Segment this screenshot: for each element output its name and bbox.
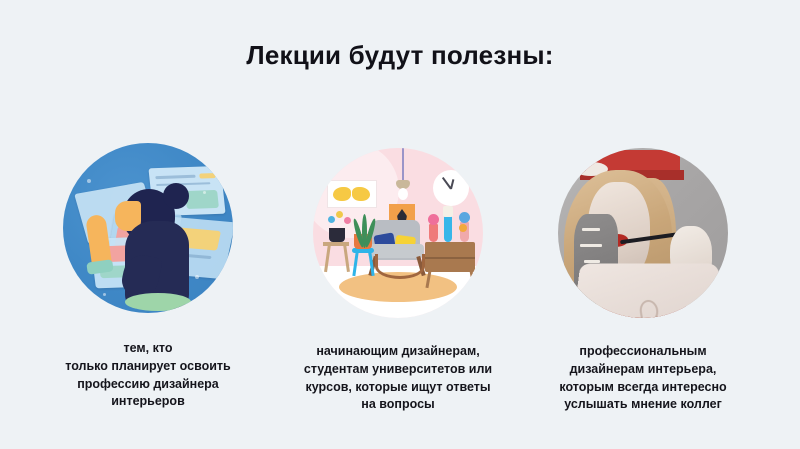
- caption-line: дизайнерам интерьера,: [518, 361, 768, 379]
- card-item: начинающим дизайнерам, студентам универс…: [273, 143, 523, 318]
- vase-blue: [444, 216, 452, 242]
- dresser: [425, 242, 475, 272]
- armchair-base-arc: [375, 254, 425, 279]
- sparkle-icon: [203, 191, 206, 194]
- caption-line: которым всегда интересно: [518, 379, 768, 397]
- caption-line: интерьеров: [23, 393, 273, 411]
- plant-pot-dark: [329, 228, 345, 242]
- flower-icon: [459, 224, 467, 232]
- card-item: профессиональным дизайнерам интерьера, к…: [518, 143, 768, 318]
- dresser-drawer-divider: [425, 257, 475, 259]
- caption-line: на вопросы: [273, 396, 523, 414]
- clock-minute-hand: [442, 177, 452, 189]
- laptop-icon: [571, 264, 727, 318]
- slide-root: Лекции будут полезны:: [0, 0, 800, 449]
- caption-line: только планирует освоить: [23, 358, 273, 376]
- flower-icon: [344, 217, 351, 224]
- sparkle-icon: [87, 179, 91, 183]
- living-room-interior-illustration: [313, 148, 483, 318]
- flower-icon: [428, 214, 439, 225]
- wall-clock-icon: [433, 170, 469, 206]
- card-caption: профессиональным дизайнерам интерьера, к…: [518, 343, 768, 414]
- pendant-lamp-cord: [402, 148, 404, 182]
- bird-icon: [352, 187, 370, 201]
- vase-pink: [429, 224, 438, 242]
- flower-icon: [459, 212, 470, 223]
- flower-icon: [443, 206, 453, 217]
- caption-line: студентам университетов или: [273, 361, 523, 379]
- pendant-lamp-bulb: [398, 188, 408, 200]
- card-caption: тем, кто только планирует освоить профес…: [23, 340, 273, 411]
- caption-line: услышать мнение коллег: [518, 396, 768, 414]
- professional-designer-with-laptop-illustration: [558, 148, 728, 318]
- bird-icon: [333, 187, 351, 201]
- laptop-logo: [638, 299, 660, 318]
- sparkle-icon: [103, 293, 106, 296]
- person-hair-bun: [163, 183, 189, 209]
- caption-line: профессию дизайнера: [23, 376, 273, 394]
- person-seat: [125, 293, 191, 311]
- bird-picture-frame: [327, 180, 377, 208]
- flower-icon: [328, 216, 335, 223]
- sparkle-icon: [195, 275, 199, 279]
- page-title: Лекции будут полезны:: [0, 40, 800, 71]
- caption-line: профессиональным: [518, 343, 768, 361]
- caption-line: начинающим дизайнерам,: [273, 343, 523, 361]
- person-browsing-interfaces-illustration: [63, 143, 233, 313]
- card-caption: начинающим дизайнерам, студентам универс…: [273, 343, 523, 414]
- flower-icon: [336, 211, 343, 218]
- caption-line: курсов, которые ищут ответы: [273, 379, 523, 397]
- caption-line: тем, кто: [23, 340, 273, 358]
- card-item: тем, кто только планирует освоить профес…: [23, 143, 273, 313]
